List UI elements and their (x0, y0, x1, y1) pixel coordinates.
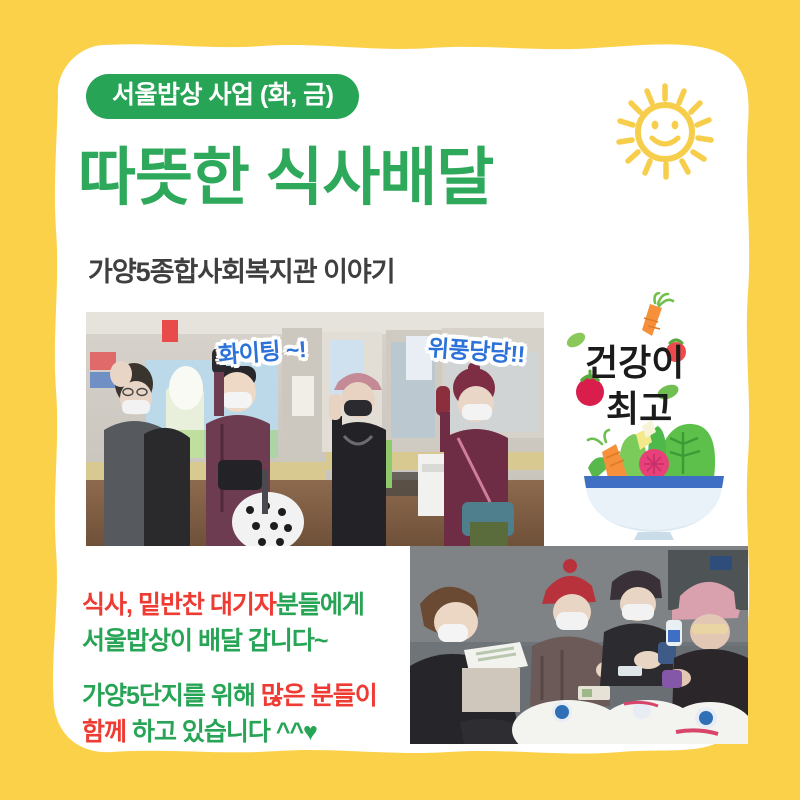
program-badge: 서울밥상 사업 (화, 금) (86, 74, 359, 119)
copy-line-2: 서울밥상이 배달 갑니다~ (82, 624, 377, 660)
body-copy: 식사, 밑반찬 대기자분들에게 서울밥상이 배달 갑니다~ 가양5단지를 위해 … (82, 588, 377, 750)
copy-line-4: 함께 하고 있습니다 ^^♥ (82, 715, 377, 751)
smiling-sun-icon (608, 78, 723, 183)
copy-line-3: 가양5단지를 위해 많은 분들이 (82, 679, 377, 715)
copy-line-4-green: 하고 있습니다 ^^♥ (132, 718, 317, 746)
copy-line-1-green: 분들에게 (276, 591, 364, 619)
page-title: 따뜻한 식사배달 (78, 145, 493, 211)
subtitle: 가양5종합사회복지관 이야기 (88, 250, 395, 289)
speech-bubble-2: 위풍당당!! (427, 329, 526, 370)
copy-line-1: 식사, 밑반찬 대기자분들에게 (82, 588, 377, 624)
copy-spacer (82, 659, 377, 679)
salad-bowl-icon (584, 420, 724, 540)
photo-packing-table (410, 546, 748, 744)
promo-card: 서울밥상 사업 (화, 금) 따뜻한 식사배달 가양5종합사회복지관 이야기 (0, 0, 800, 800)
copy-line-4-red: 함께 (82, 718, 132, 746)
copy-line-3-green: 가양5단지를 위해 (82, 682, 261, 710)
carrot-icon (642, 293, 673, 336)
illustration-text-line1: 건강이 (585, 334, 684, 386)
illustration-text-line2: 최고 (606, 380, 672, 432)
copy-line-2-green: 서울밥상이 배달 갑니다~ (82, 627, 328, 655)
copy-line-3-red: 많은 분들이 (261, 682, 377, 710)
speech-bubble-1: 화이팅 ~! (217, 330, 307, 370)
copy-line-1-red: 식사, 밑반찬 대기자 (82, 591, 276, 619)
